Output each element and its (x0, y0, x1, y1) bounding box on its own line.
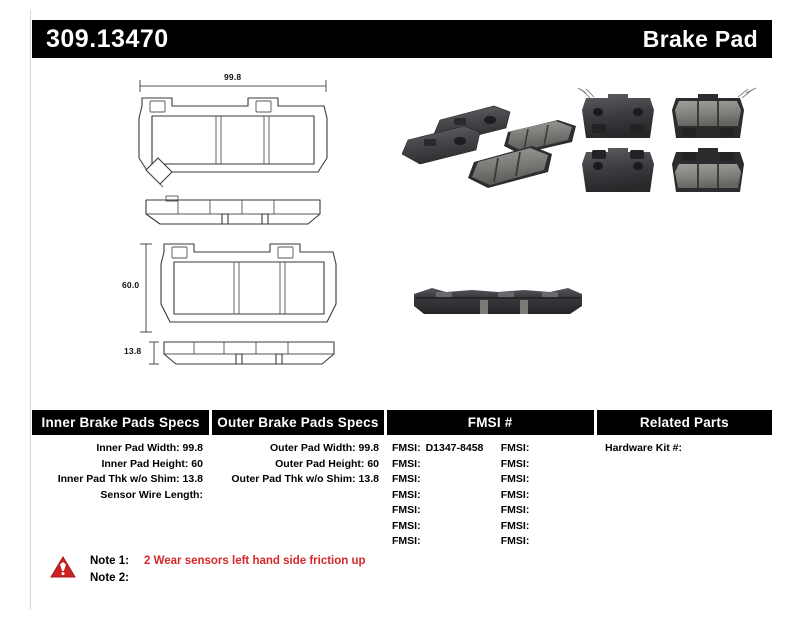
pad-front-view-top: STOPTECH (128, 72, 338, 192)
fmsi-label: FMSI: (501, 504, 530, 516)
fmsi-label: FMSI: (392, 442, 421, 454)
spec-line: Outer Pad Width: 99.8 (212, 441, 379, 457)
fmsi-row: FMSI: (501, 534, 594, 550)
note-row-2: Note 2: (90, 570, 366, 587)
fmsi-column-b: FMSI: FMSI: FMSI: FMSI: FMSI: (501, 441, 594, 550)
fmsi-label: FMSI: (501, 520, 530, 532)
fmsi-label: FMSI: (392, 535, 421, 547)
spec-line: Outer Pad Height: 60 (212, 457, 379, 473)
column-header-outer-specs: Outer Brake Pads Specs (212, 410, 383, 435)
fmsi-row: FMSI: (392, 534, 501, 550)
spec-line: Inner Pad Thk w/o Shim: 13.8 (32, 472, 203, 488)
fmsi-row: FMSI: (501, 503, 594, 519)
related-parts-cell: Hardware Kit #: (597, 441, 772, 550)
fmsi-label: FMSI: (392, 504, 421, 516)
fmsi-row: FMSI: (501, 519, 594, 535)
fmsi-row: FMSI: (392, 488, 501, 504)
product-photo-flat-lay (572, 80, 768, 198)
fmsi-row: FMSI:D1347-8458 (392, 441, 501, 457)
title-bar: 309.13470 Brake Pad (32, 20, 772, 58)
dimension-width-label: 99.8 (224, 72, 241, 82)
fmsi-cell: FMSI:D1347-8458 FMSI: FMSI: FMSI: FMSI: (386, 441, 594, 550)
fmsi-label: FMSI: (501, 442, 530, 454)
spec-line: Inner Pad Width: 99.8 (32, 441, 203, 457)
fmsi-label: FMSI: (392, 458, 421, 470)
column-header-inner-specs: Inner Brake Pads Specs (32, 410, 209, 435)
fmsi-row: FMSI: (501, 441, 594, 457)
product-photo-edge-pad (402, 276, 592, 326)
fmsi-column-a: FMSI:D1347-8458 FMSI: FMSI: FMSI: FMSI: (392, 441, 501, 550)
pad-edge-view-bottom: 13.8 (128, 336, 340, 376)
table-header-row: Inner Brake Pads Specs Outer Brake Pads … (32, 410, 772, 435)
note-lines: Note 1: 2 Wear sensors left hand side fr… (90, 553, 366, 587)
notes-section: Note 1: 2 Wear sensors left hand side fr… (50, 553, 366, 587)
warning-triangle-icon (50, 555, 76, 579)
fmsi-label: FMSI: (501, 458, 530, 470)
column-header-fmsi: FMSI # (387, 410, 594, 435)
spec-line: Inner Pad Height: 60 (32, 457, 203, 473)
fmsi-row: FMSI: (501, 457, 594, 473)
inner-specs-cell: Inner Pad Width: 99.8 Inner Pad Height: … (32, 441, 209, 550)
spec-table: Inner Brake Pads Specs Outer Brake Pads … (32, 410, 772, 550)
fmsi-label: FMSI: (392, 520, 421, 532)
spec-line: Outer Pad Thk w/o Shim: 13.8 (212, 472, 379, 488)
fmsi-row: FMSI: (392, 457, 501, 473)
fmsi-row: FMSI: (392, 519, 501, 535)
table-body-row: Inner Pad Width: 99.8 Inner Pad Height: … (32, 441, 772, 550)
page-left-rule (30, 10, 31, 610)
outer-specs-cell: Outer Pad Width: 99.8 Outer Pad Height: … (212, 441, 383, 550)
spec-line: Sensor Wire Length: (32, 488, 203, 504)
fmsi-label: FMSI: (392, 473, 421, 485)
note2-label: Note 2: (90, 570, 138, 587)
fmsi-row: FMSI: (501, 488, 594, 504)
pad-front-view-bottom: STOPTECH 60.0 (128, 236, 340, 346)
fmsi-label: FMSI: (501, 535, 530, 547)
dimension-height-label: 60.0 (122, 280, 139, 290)
note1-text: 2 Wear sensors left hand side friction u… (144, 553, 366, 570)
product-type: Brake Pad (643, 26, 758, 53)
fmsi-label: FMSI: (501, 473, 530, 485)
part-number: 309.13470 (46, 25, 169, 54)
pad-edge-view-top (138, 192, 328, 232)
fmsi-row: FMSI: (501, 472, 594, 488)
fmsi-label: FMSI: (501, 489, 530, 501)
note-row-1: Note 1: 2 Wear sensors left hand side fr… (90, 553, 366, 570)
fmsi-value: D1347-8458 (426, 442, 484, 454)
note1-label: Note 1: (90, 553, 138, 570)
drawings-area: STOPTECH (32, 64, 772, 394)
hardware-kit-line: Hardware Kit #: (605, 441, 772, 457)
fmsi-row: FMSI: (392, 472, 501, 488)
dimension-thickness-label: 13.8 (124, 346, 141, 356)
spec-sheet-page: 309.13470 Brake Pad STOPTECH (0, 0, 800, 619)
column-header-related-parts: Related Parts (597, 410, 772, 435)
fmsi-label: FMSI: (392, 489, 421, 501)
product-photo-angled-pads (398, 84, 588, 194)
fmsi-row: FMSI: (392, 503, 501, 519)
